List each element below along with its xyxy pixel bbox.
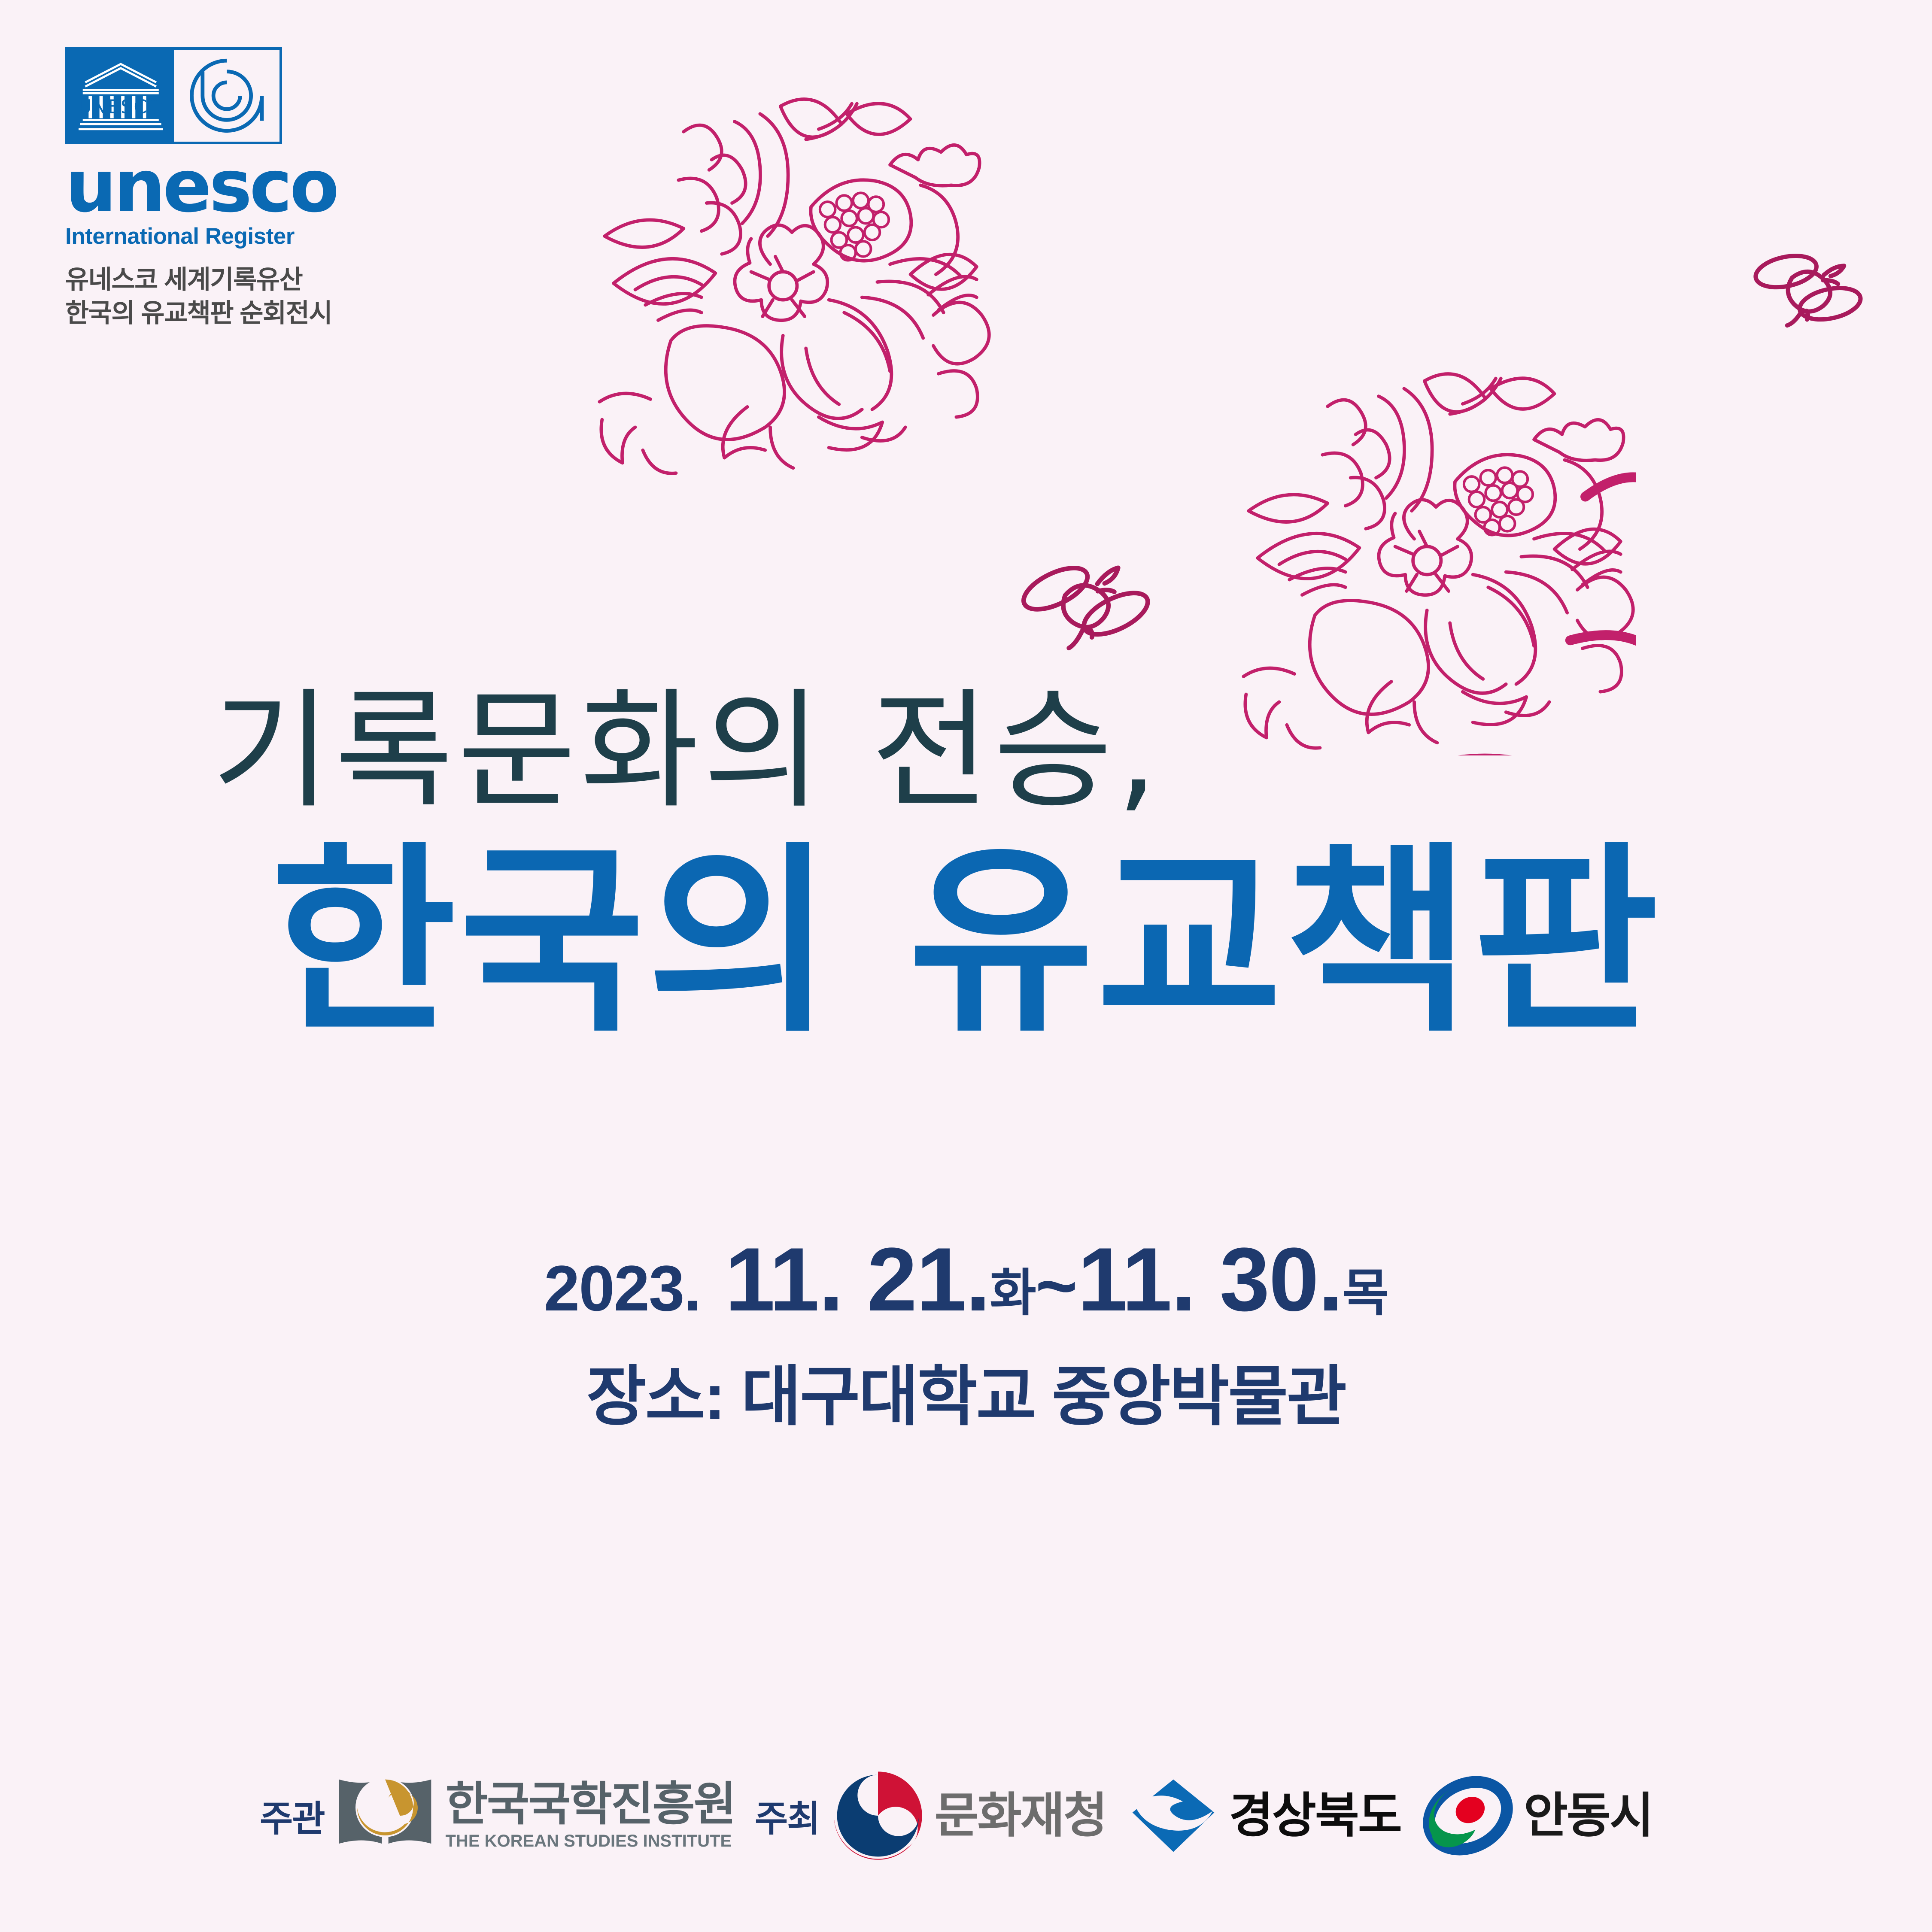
exhibition-poster: UNESCO unesco International Register 유네스…	[0, 0, 1932, 1932]
date-start-day: 21.	[867, 1229, 990, 1330]
bee-motif	[1732, 231, 1883, 352]
exhibition-venue: 장소: 대구대학교 중앙박물관	[0, 1344, 1932, 1438]
unesco-wordmark: unesco	[65, 155, 495, 217]
date-year: 2023.	[544, 1252, 701, 1324]
logo-name-andong-city: 안동시	[1524, 1792, 1653, 1840]
unesco-register-label: International Register	[65, 223, 495, 249]
unesco-branding-block: UNESCO unesco International Register 유네스…	[65, 47, 495, 330]
date-end-month: 11.	[1078, 1229, 1195, 1330]
date-end-day: 30.	[1220, 1229, 1343, 1330]
logo-cultural-heritage-administration: 문화재청	[831, 1768, 1106, 1863]
memory-of-the-world-spiral-icon	[174, 50, 280, 142]
footer-logo-bar: 주관 한국국학진흥원 THE KOREAN STUDIES INSTITUTE …	[0, 1766, 1932, 1865]
host-label: 주최	[755, 1790, 820, 1842]
logo-name-cultural-heritage-administration: 문화재청	[935, 1792, 1106, 1840]
logo-andong-city: 안동시	[1421, 1768, 1653, 1863]
page-title: 한국의 유교책판	[0, 841, 1932, 1043]
unesco-korean-subtitle: 유네스코 세계기록유산 한국의 유교책판 순회전시	[65, 263, 495, 330]
organizer-label: 주관	[260, 1790, 325, 1842]
open-book-gold-spiral-icon	[336, 1766, 434, 1865]
logo-korean-studies-institute: 한국국학진흥원 THE KOREAN STUDIES INSTITUTE	[336, 1766, 735, 1865]
svg-text:UNESCO: UNESCO	[78, 95, 164, 118]
date-end-weekday: 목	[1343, 1265, 1388, 1322]
date-start-month: 11.	[725, 1229, 843, 1330]
logo-name-gyeongsangbuk-do: 경상북도	[1229, 1792, 1401, 1840]
exhibition-date: 2023. 11. 21.화~11. 30.목	[0, 1228, 1932, 1331]
bee-motif	[1010, 549, 1163, 668]
logo-subname-korean-studies-institute: THE KOREAN STUDIES INSTITUTE	[446, 1832, 735, 1851]
headline-subtitle: 기록문화의 전승,	[0, 687, 1932, 816]
date-start-weekday: 화	[990, 1265, 1036, 1322]
logo-gyeongsangbuk-do: 경상북도	[1126, 1768, 1401, 1863]
pomegranate-floral-motif	[554, 86, 992, 481]
taegeuk-icon	[831, 1768, 925, 1863]
tricolor-swirl-icon	[1421, 1768, 1515, 1863]
headline-block: 기록문화의 전승, 한국의 유교책판	[0, 687, 1932, 1043]
logo-name-korean-studies-institute: 한국국학진흥원	[446, 1781, 735, 1827]
date-range-separator: ~	[1036, 1245, 1078, 1326]
blue-wave-diamond-icon	[1126, 1768, 1221, 1863]
unesco-temple-icon: UNESCO	[68, 50, 174, 142]
unesco-emblem: UNESCO	[65, 47, 282, 144]
